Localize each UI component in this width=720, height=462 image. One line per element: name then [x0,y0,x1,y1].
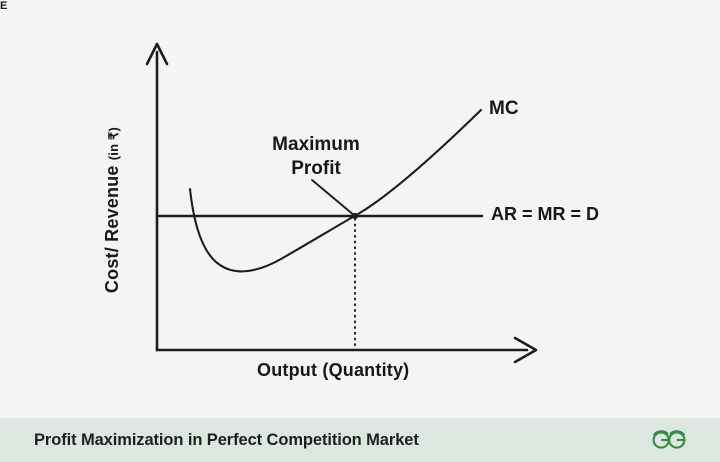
ar-mr-d-curve-label: AR = MR = D [491,204,599,225]
max-profit-pointer-line [312,180,355,216]
gfg-logo-icon [648,427,690,453]
y-axis [147,44,167,350]
x-axis-label: Output (Quantity) [257,360,409,381]
equilibrium-point-marker [352,213,358,219]
y-axis-label-unit: (in ₹) [106,127,121,160]
maximum-profit-line-2: Profit [256,157,376,181]
screenshot-canvas: Cost/ Revenue (in ₹) Output (Quantity) M… [0,0,720,462]
maximum-profit-line-1: Maximum [256,133,376,157]
mc-curve-label: MC [489,98,519,120]
caption-title: Profit Maximization in Perfect Competiti… [34,431,419,450]
y-axis-label: Cost/ Revenue (in ₹) [103,95,123,325]
diagram-figure-area: Cost/ Revenue (in ₹) Output (Quantity) M… [0,0,720,418]
maximum-profit-annotation: Maximum Profit [256,133,376,181]
y-axis-label-main: Cost/ Revenue [102,165,122,293]
geeksforgeeks-logo [648,427,690,453]
caption-bar: Profit Maximization in Perfect Competiti… [0,418,720,462]
x-axis [157,338,536,362]
